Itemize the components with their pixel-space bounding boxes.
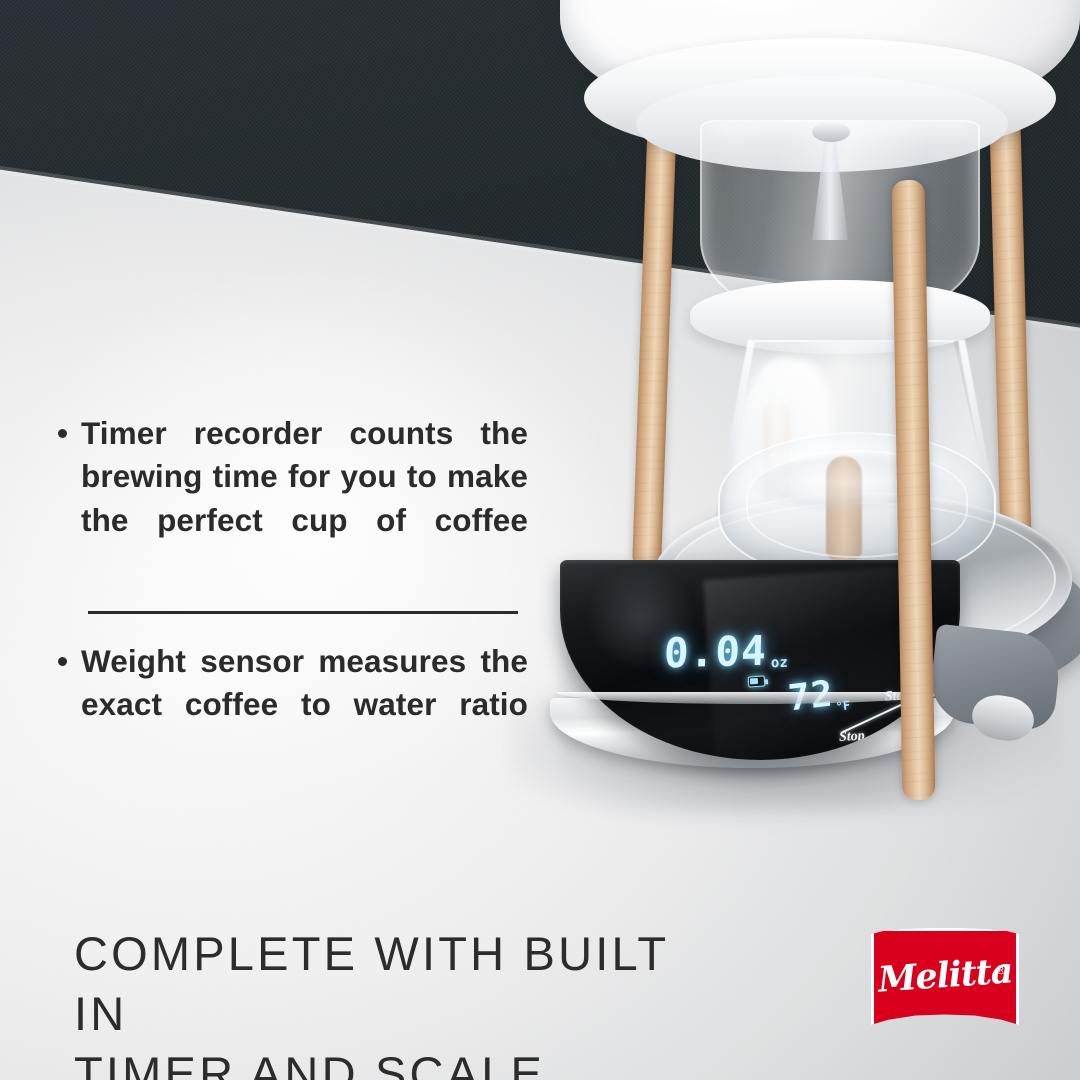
feature-bullet-2: Weight sensor measures the exact coffee … <box>58 640 528 770</box>
registered-trademark-icon: ® <box>996 962 1006 977</box>
melitta-logo: Melitta ® <box>871 928 1019 1031</box>
battery-icon <box>748 675 766 687</box>
feature-bullet-1-text: Timer recorder counts the brewing time f… <box>81 412 528 586</box>
carafe-base-inner-ring <box>746 450 968 558</box>
weight-readout: 0.04 oz <box>664 628 788 676</box>
weight-value: 0.04 <box>663 627 767 678</box>
weight-unit: oz <box>770 655 787 676</box>
product-photo: 0.04 oz 72 °F Start Stop On Tare <box>540 0 1080 860</box>
bullet-row: Weight sensor measures the exact coffee … <box>58 640 528 770</box>
bullet-dot-icon <box>58 657 67 666</box>
bullet-dot-icon <box>58 429 67 438</box>
product-feature-card: 0.04 oz 72 °F Start Stop On Tare <box>0 0 1080 1080</box>
bullet-divider <box>88 611 518 614</box>
page-title: COMPLETE WITH BUILT IN TIMER AND SCALE <box>74 924 714 1080</box>
feature-bullet-2-text: Weight sensor measures the exact coffee … <box>81 640 528 770</box>
feature-bullet-1: Timer recorder counts the brewing time f… <box>58 412 528 586</box>
headline-line-2: TIMER AND SCALE <box>74 1044 714 1080</box>
wood-leg-left <box>632 110 677 571</box>
stop-label: Stop <box>839 729 865 746</box>
bullet-row: Timer recorder counts the brewing time f… <box>58 412 528 586</box>
brew-chamber-knob <box>812 122 850 142</box>
headline-line-1: COMPLETE WITH BUILT IN <box>74 924 714 1044</box>
